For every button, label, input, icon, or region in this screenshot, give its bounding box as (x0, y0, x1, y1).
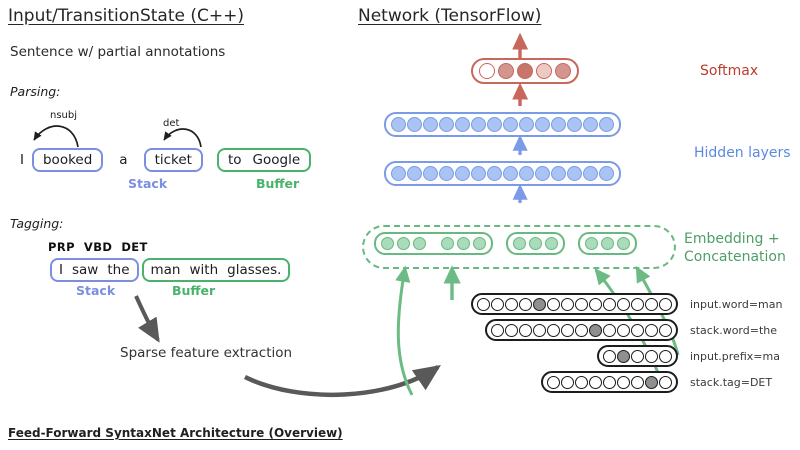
embedding-group[interactable] (578, 232, 637, 255)
parsing-stack-box-1[interactable]: booked (32, 148, 103, 172)
hidden-node (471, 166, 486, 181)
hidden-node (407, 166, 422, 181)
feature-node (631, 324, 644, 337)
hidden-layers-label: Hidden layers (694, 145, 791, 161)
parsing-middle-token: a (119, 152, 127, 168)
left-section-title: Input/TransitionState (C++) (8, 6, 244, 26)
hidden-node (423, 166, 438, 181)
tagging-buffer-box[interactable]: man with glasses. (142, 258, 291, 282)
feature-node (617, 298, 630, 311)
embedding-node (413, 237, 426, 250)
embedding-groups-row (374, 232, 637, 255)
feature-vector-row[interactable] (471, 293, 678, 315)
hidden-node (455, 166, 470, 181)
hidden-node (535, 117, 550, 132)
embedding-group-separator (429, 243, 438, 244)
embedding-group[interactable] (506, 232, 565, 255)
arc-label-nsubj: nsubj (50, 110, 77, 121)
feature-node (561, 376, 574, 389)
feature-node (631, 350, 644, 363)
parsing-stack-token-ticket: ticket (155, 152, 192, 168)
softmax-label: Softmax (700, 63, 758, 79)
feature-node-active (589, 324, 602, 337)
hidden-node (599, 166, 614, 181)
parsing-buffer-role-label: Buffer (256, 176, 299, 191)
sparse-feature-extraction-label: Sparse feature extraction (120, 345, 292, 361)
feature-node (631, 298, 644, 311)
parsing-leading-token: I (20, 152, 24, 168)
hidden-node (455, 117, 470, 132)
feature-node-active (617, 350, 630, 363)
parsing-stack-role-label: Stack (128, 176, 167, 191)
parsing-stack-box-2[interactable]: ticket (144, 148, 203, 172)
hidden-node (503, 166, 518, 181)
feature-node (477, 298, 490, 311)
feature-node (659, 350, 672, 363)
feature-node (519, 298, 532, 311)
hidden-node (567, 117, 582, 132)
softmax-node (555, 63, 571, 79)
arc-label-det: det (163, 118, 179, 129)
feature-node (575, 298, 588, 311)
hidden-node (583, 166, 598, 181)
tagging-stack-box[interactable]: I saw the (50, 258, 139, 282)
tagging-pos-tag-row: PRP VBD DET (48, 240, 148, 254)
embedding-node (381, 237, 394, 250)
feature-node-active (645, 376, 658, 389)
right-section-title: Network (TensorFlow) (358, 6, 541, 26)
feature-node (659, 298, 672, 311)
parsing-stack-token-booked: booked (43, 152, 92, 168)
embedding-node (585, 237, 598, 250)
hidden-node (439, 117, 454, 132)
parsing-task-label: Parsing: (10, 84, 60, 99)
tagging-buffer-role-label: Buffer (172, 283, 215, 298)
hidden-node (407, 117, 422, 132)
feature-vector-row[interactable] (541, 371, 678, 393)
hidden-node (487, 166, 502, 181)
pos-tag-prp: PRP (48, 240, 75, 254)
feature-node (505, 324, 518, 337)
embedding-node (397, 237, 410, 250)
feature-node (603, 350, 616, 363)
tagging-stack-token-saw: saw (72, 262, 98, 278)
embedding-node (545, 237, 558, 250)
feature-node (603, 298, 616, 311)
feature-node (519, 324, 532, 337)
feature-node (561, 324, 574, 337)
feature-node (603, 376, 616, 389)
tagging-stack-token-the: the (107, 262, 129, 278)
hidden-node (471, 117, 486, 132)
feature-node (645, 324, 658, 337)
embedding-node (513, 237, 526, 250)
feature-node (603, 324, 616, 337)
hidden-node (439, 166, 454, 181)
arrow-to-sparse-extraction (136, 296, 158, 340)
softmax-layer[interactable] (471, 58, 579, 84)
tagging-token-row: I saw the man with glasses. (50, 258, 290, 282)
embedding-label: Embedding + Concatenation (684, 231, 786, 266)
feature-node (659, 324, 672, 337)
hidden-node (535, 166, 550, 181)
embedding-node (529, 237, 542, 250)
embedding-node (473, 237, 486, 250)
tagging-task-label: Tagging: (10, 216, 63, 231)
feature-node (631, 376, 644, 389)
pos-tag-det: DET (121, 240, 147, 254)
dependency-arc-nsubj (34, 126, 78, 147)
embedding-label-line2: Concatenation (684, 249, 786, 267)
parsing-buffer-box[interactable]: to Google (217, 148, 311, 172)
feature-node (505, 298, 518, 311)
figure-caption: Feed-Forward SyntaxNet Architecture (Ove… (8, 426, 343, 440)
feature-vector-label: stack.word=the (690, 324, 777, 337)
left-subtitle: Sentence w/ partial annotations (10, 44, 225, 60)
hidden-node (567, 166, 582, 181)
feature-node (589, 298, 602, 311)
embedding-node (457, 237, 470, 250)
feature-node (575, 324, 588, 337)
tagging-buffer-token-man: man (151, 262, 181, 278)
feature-vector-label: stack.tag=DET (690, 376, 772, 389)
tagging-stack-role-label: Stack (76, 283, 115, 298)
hidden-node (391, 117, 406, 132)
softmax-node (498, 63, 514, 79)
embedding-label-line1: Embedding + (684, 231, 786, 249)
feature-node (617, 376, 630, 389)
feature-node-active (533, 298, 546, 311)
feature-node (547, 324, 560, 337)
feature-node (659, 376, 672, 389)
hidden-node (503, 117, 518, 132)
hidden-node (551, 166, 566, 181)
arrow-sparse-to-features (245, 367, 438, 395)
hidden-layer-2[interactable] (384, 161, 621, 186)
softmax-node (536, 63, 552, 79)
feature-vector-label: input.prefix=ma (690, 350, 780, 363)
feature-vector-label: input.word=man (690, 298, 782, 311)
dependency-arc-det (164, 129, 201, 147)
softmax-node (517, 63, 533, 79)
feature-node (533, 324, 546, 337)
arrow-feature-to-embedding-1 (398, 268, 412, 395)
hidden-node (423, 117, 438, 132)
embedding-group[interactable] (374, 232, 493, 255)
hidden-layer-1[interactable] (384, 112, 621, 137)
feature-node (645, 298, 658, 311)
feature-node (547, 376, 560, 389)
hidden-node (487, 117, 502, 132)
feature-node (645, 350, 658, 363)
hidden-node (519, 117, 534, 132)
feature-node (561, 298, 574, 311)
hidden-node (551, 117, 566, 132)
feature-node (575, 376, 588, 389)
embedding-node (441, 237, 454, 250)
feature-node (547, 298, 560, 311)
parsing-buffer-token-to: to (228, 152, 242, 168)
embedding-node (617, 237, 630, 250)
feature-vector-row[interactable] (485, 319, 678, 341)
hidden-node (599, 117, 614, 132)
feature-node (491, 298, 504, 311)
tagging-buffer-token-with: with (189, 262, 218, 278)
hidden-node (391, 166, 406, 181)
hidden-node (519, 166, 534, 181)
feature-vector-row[interactable] (597, 345, 678, 367)
softmax-node (479, 63, 495, 79)
embedding-node (601, 237, 614, 250)
hidden-node (583, 117, 598, 132)
tagging-stack-token-i: I (59, 262, 63, 278)
pos-tag-vbd: VBD (84, 240, 112, 254)
feature-node (617, 324, 630, 337)
feature-node (589, 376, 602, 389)
parsing-token-row: I booked a ticket to Google (20, 148, 311, 172)
feature-node (491, 324, 504, 337)
tagging-buffer-token-glasses: glasses. (227, 262, 281, 278)
parsing-buffer-token-google: Google (253, 152, 301, 168)
